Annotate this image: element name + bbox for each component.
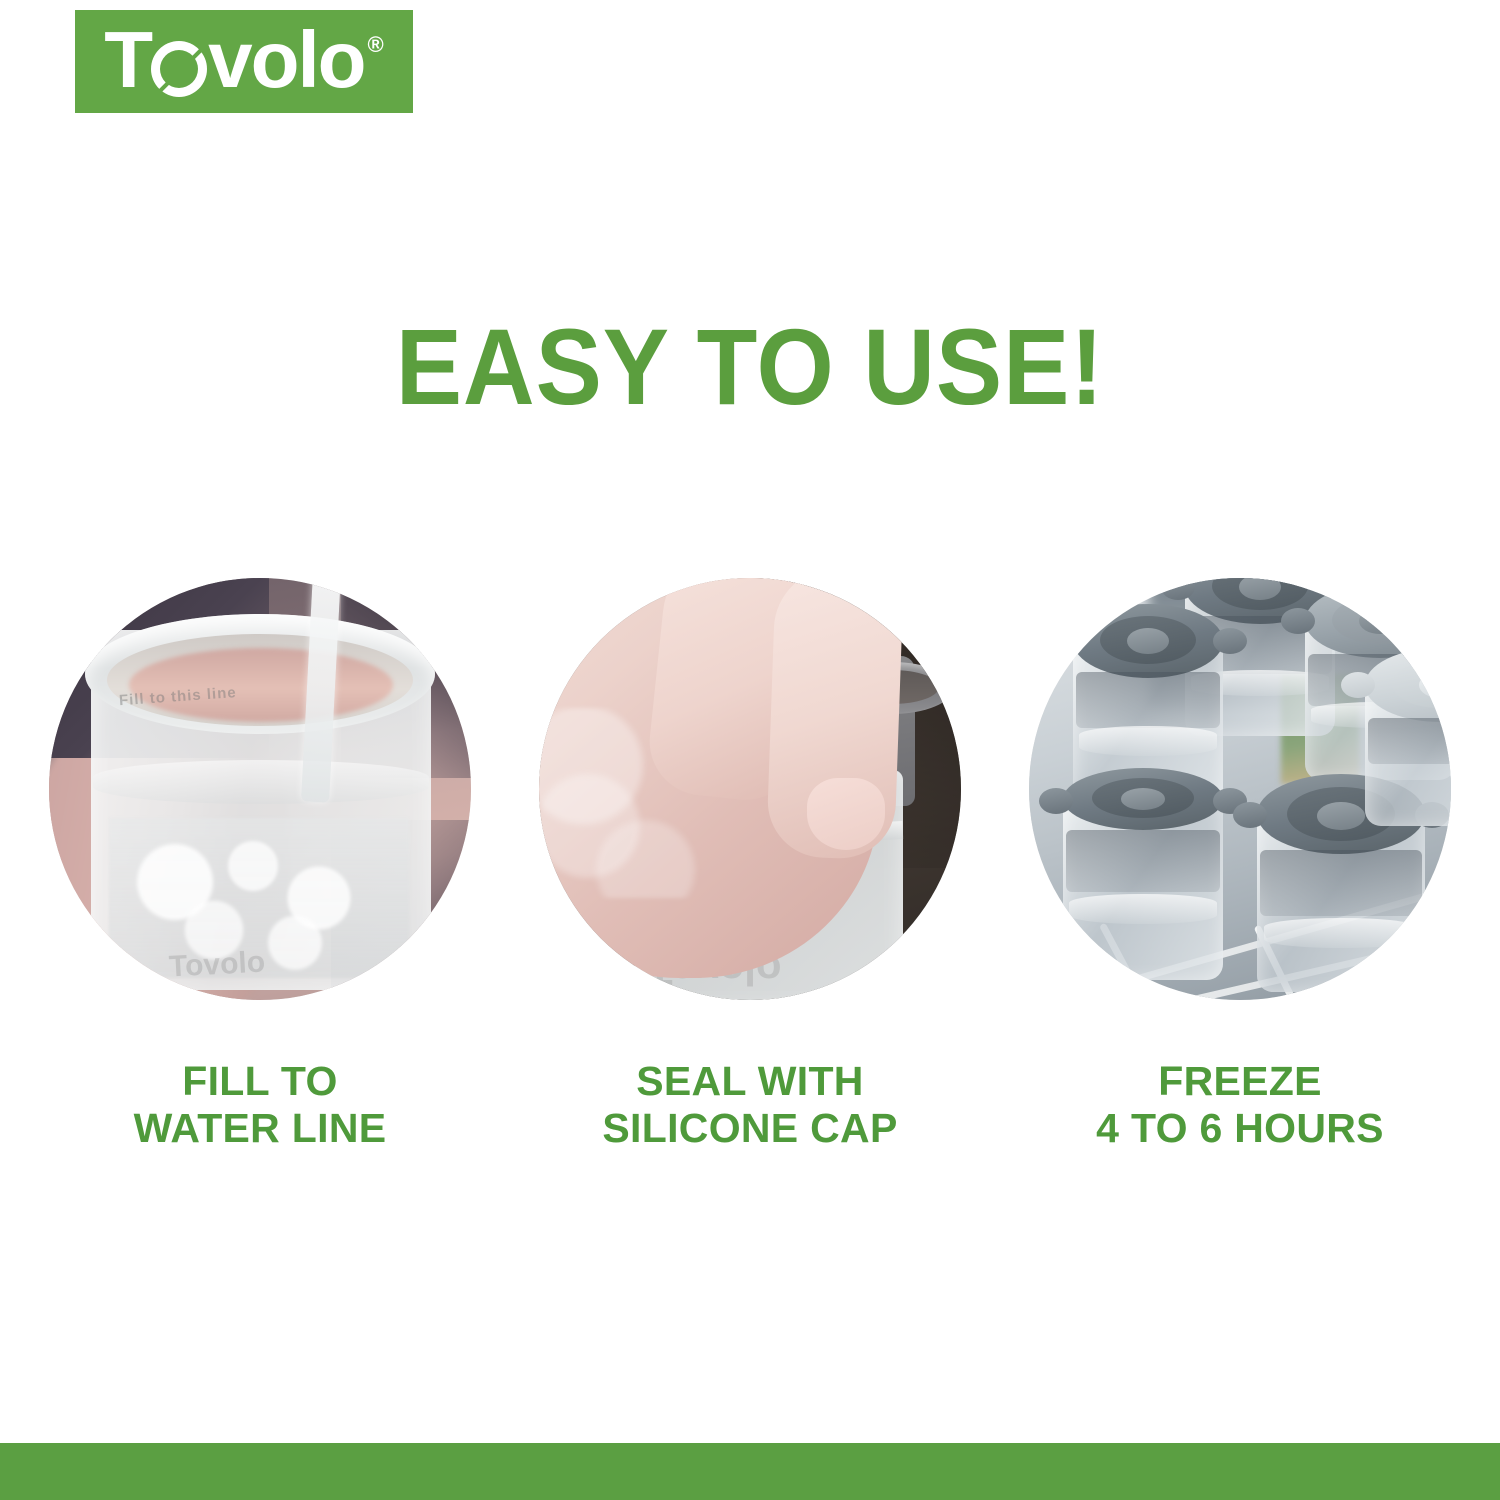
step-caption-line2: WATER LINE [134, 1105, 387, 1152]
split-circle-o-icon [151, 41, 207, 97]
step-seal-with-silicone-cap: SILICONE Tovolo SEAL WITH SILICONE CAP [538, 578, 963, 1152]
logo-letters: T volo [104, 20, 364, 100]
freeze-4-to-6-hours-photo [1029, 578, 1451, 1000]
step-caption-line2: 4 TO 6 HOURS [1096, 1105, 1384, 1152]
step-caption-line2: SILICONE CAP [602, 1105, 897, 1152]
step-caption: SEAL WITH SILICONE CAP [602, 1058, 897, 1152]
step-caption: FILL TO WATER LINE [134, 1058, 387, 1152]
steps-row: Fill to this line Tovolo FILL TO WATER L… [0, 578, 1500, 1178]
logo-letters-rest: volo [208, 20, 364, 100]
registered-trademark-icon: ® [368, 34, 384, 56]
seal-with-silicone-cap-photo: SILICONE Tovolo [539, 578, 961, 1000]
page-title: EASY TO USE! [60, 312, 1440, 422]
step-caption-line1: SEAL WITH [636, 1058, 863, 1104]
mold-brand-emboss: Tovolo [168, 946, 266, 985]
ice-mold-front-left-bottom [1063, 768, 1223, 978]
step-freeze: FREEZE 4 TO 6 HOURS [1028, 578, 1453, 1152]
logo-letter-t: T [104, 20, 151, 100]
step-fill-to-water-line: Fill to this line Tovolo FILL TO WATER L… [48, 578, 473, 1152]
step-caption: FREEZE 4 TO 6 HOURS [1096, 1058, 1384, 1152]
fill-to-water-line-photo: Fill to this line Tovolo [49, 578, 471, 1000]
step-caption-line1: FREEZE [1158, 1058, 1322, 1104]
footer-bar [0, 1443, 1500, 1500]
step-caption-line1: FILL TO [182, 1058, 337, 1104]
logo-wordmark: T volo ® [104, 20, 384, 100]
tovolo-logo: T volo ® [75, 10, 413, 113]
ice-mold-far-right [1365, 648, 1451, 828]
infographic-page: T volo ® EASY TO USE! [0, 0, 1500, 1500]
